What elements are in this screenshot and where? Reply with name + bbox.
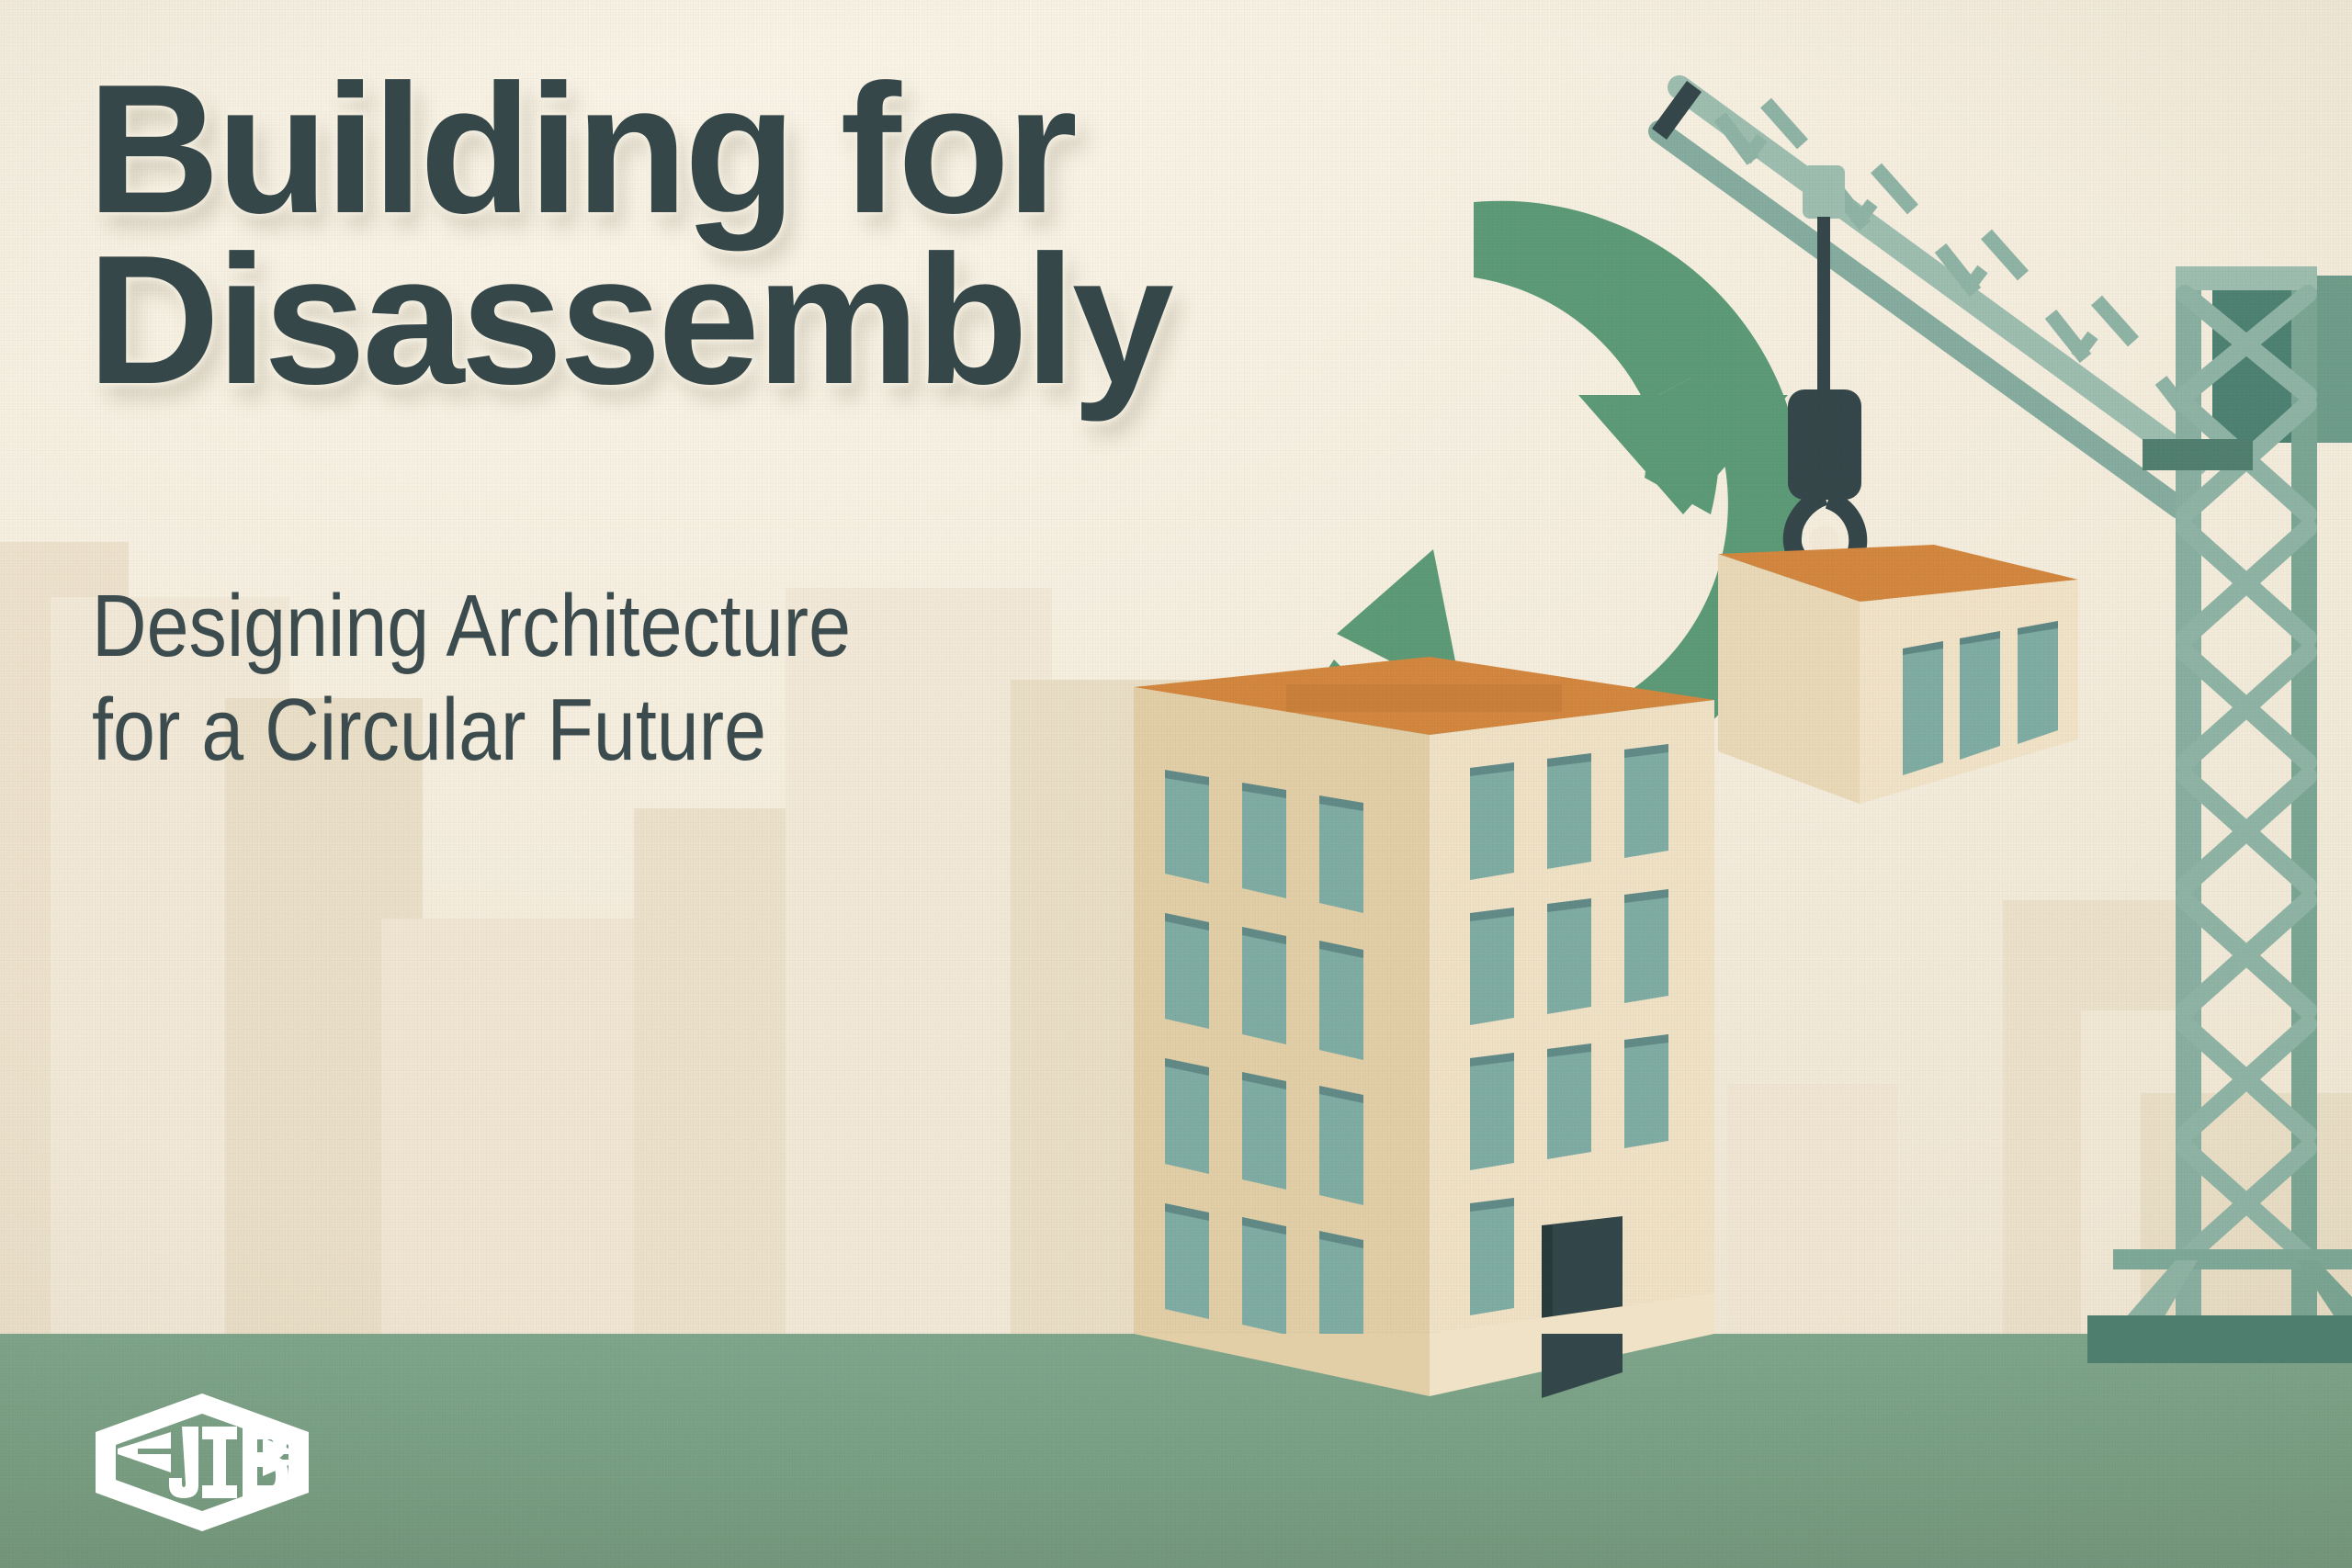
subtitle-line-1: Designing Architecture	[92, 574, 1040, 678]
page-subtitle: Designing Architecture for a Circular Fu…	[92, 574, 1040, 783]
brand-logo[interactable]	[92, 1390, 312, 1535]
page-title: Building for Disassembly	[87, 64, 1465, 406]
subtitle-line-2: for a Circular Future	[92, 678, 1040, 782]
jib-monogram-icon	[92, 1390, 312, 1535]
title-line-2: Disassembly	[87, 235, 1465, 406]
poster-canvas: Building for Disassembly Designing Archi…	[0, 0, 2352, 1568]
title-line-1: Building for	[87, 64, 1465, 235]
